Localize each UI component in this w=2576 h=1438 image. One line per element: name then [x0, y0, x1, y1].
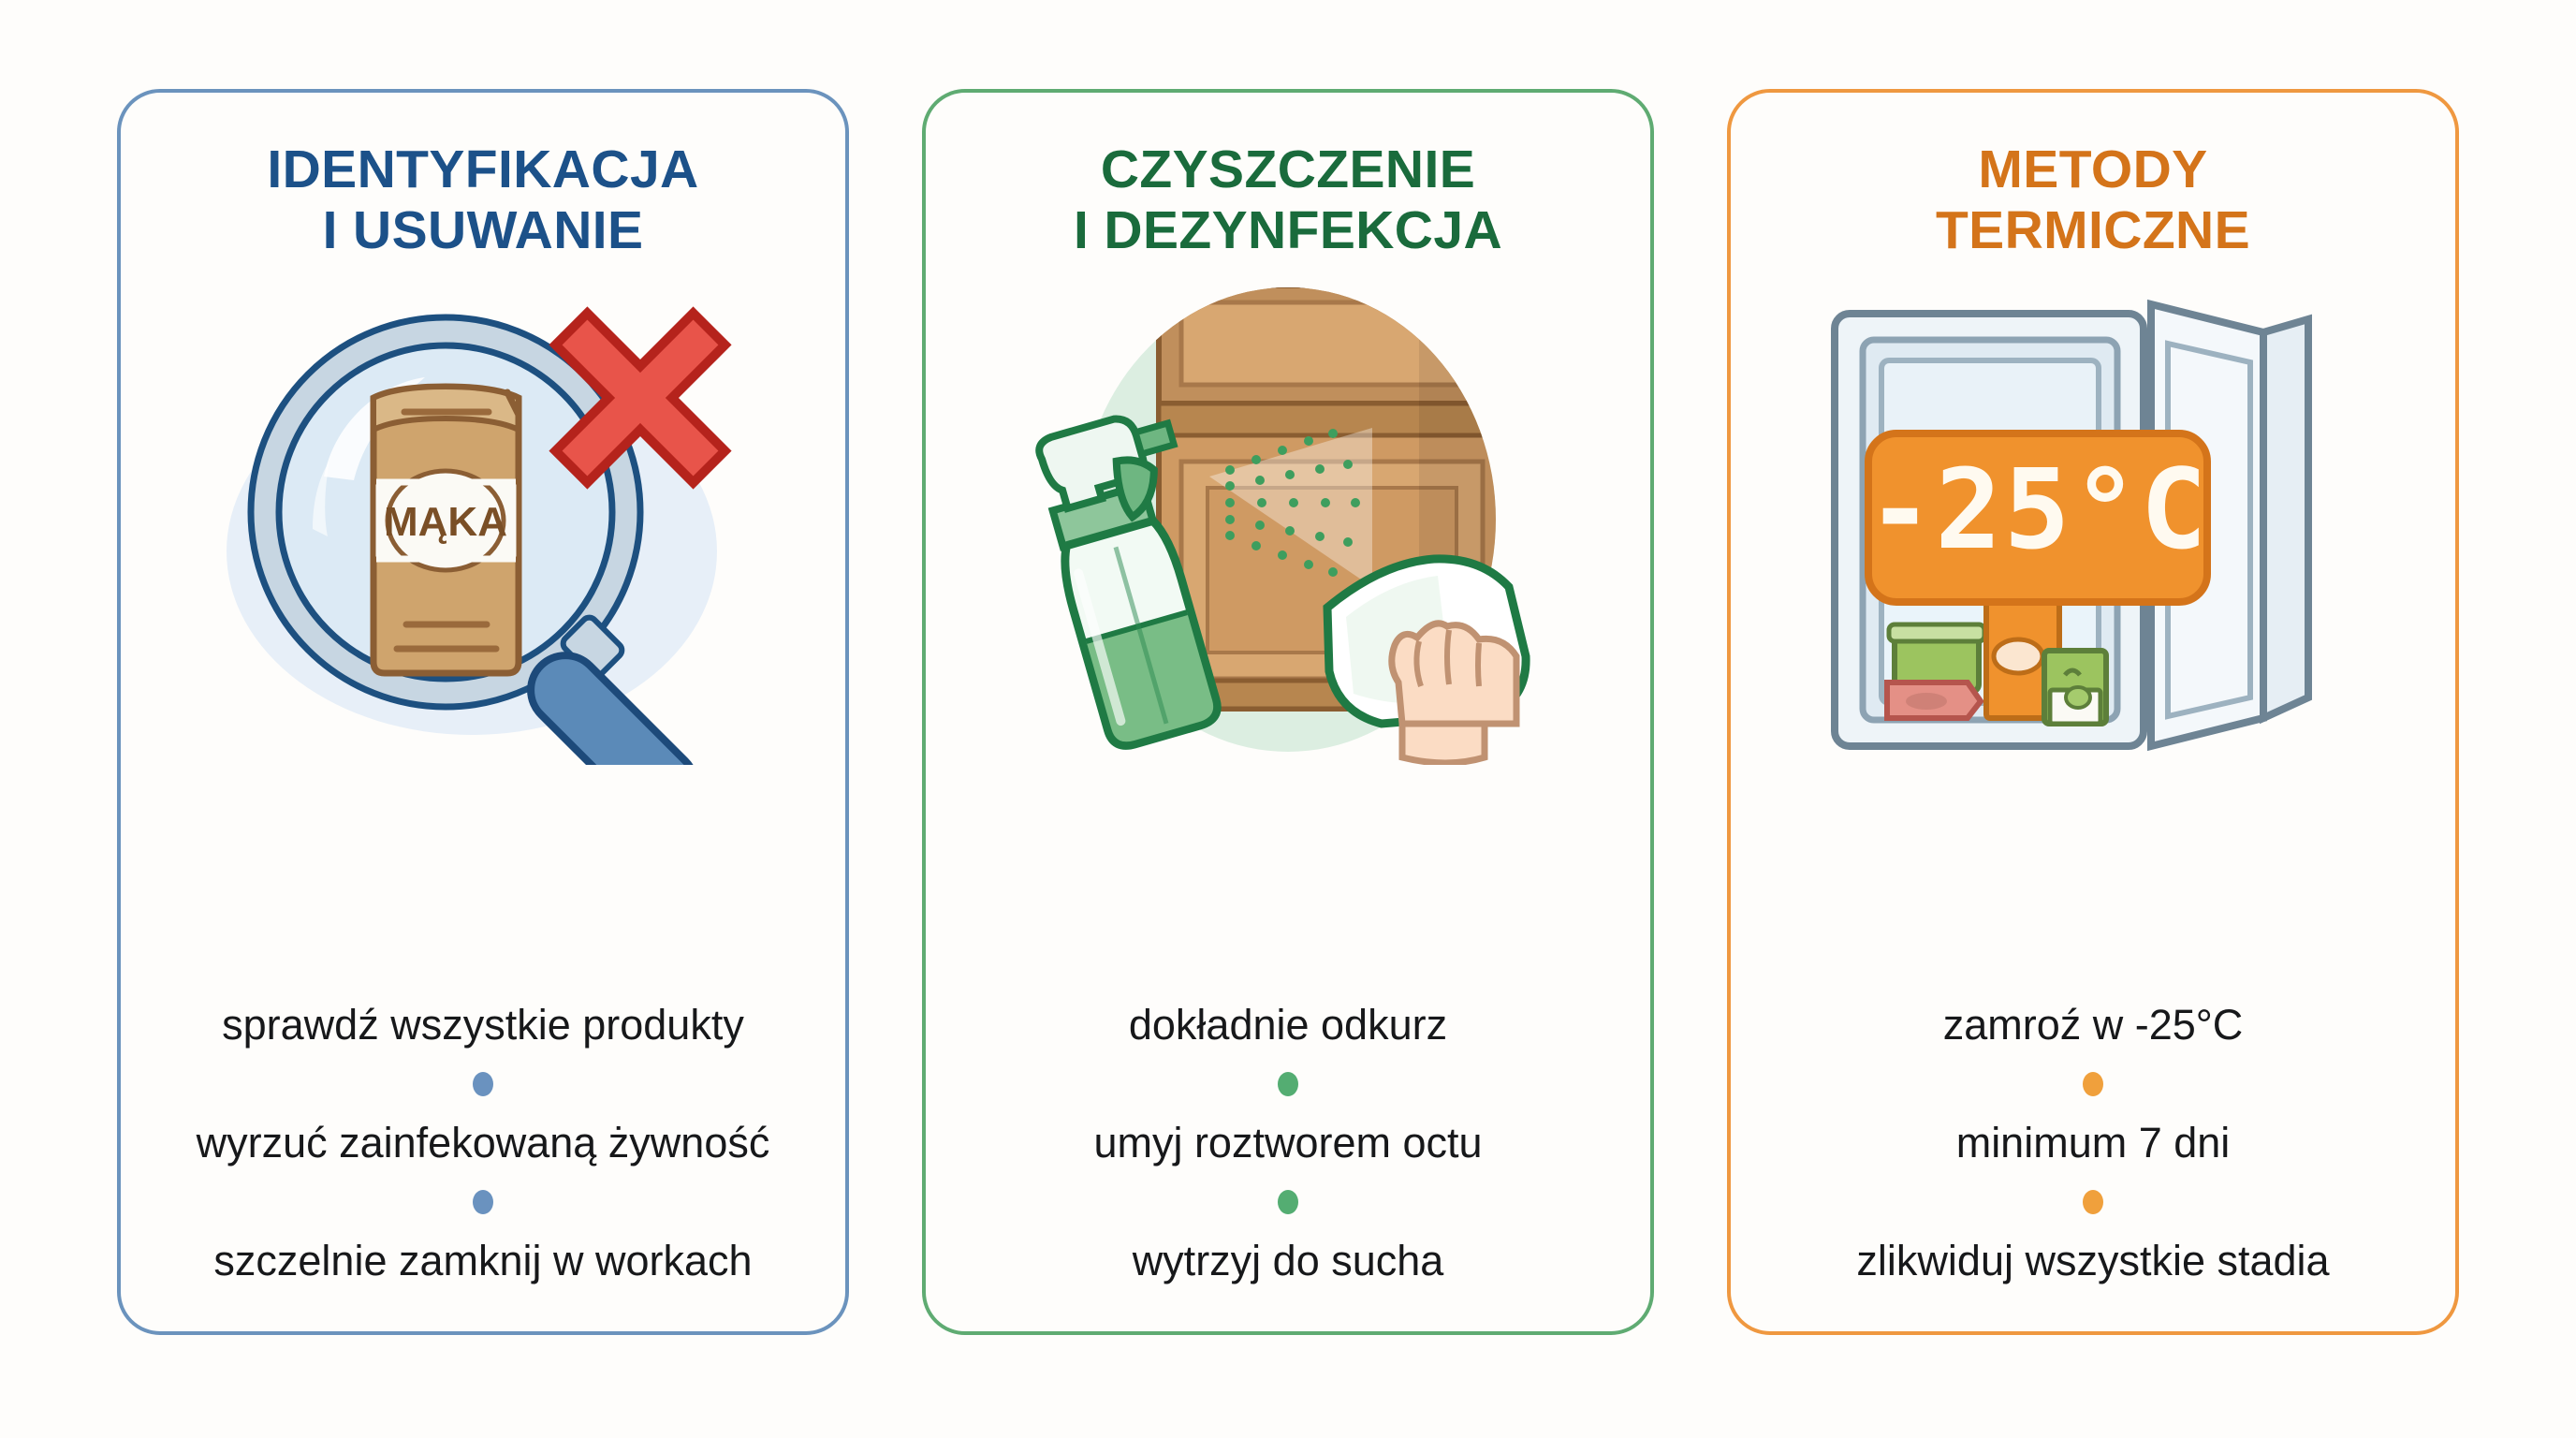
step-item: szczelnie zamknij w workach [213, 1236, 752, 1286]
step-item: sprawdź wszystkie produkty [222, 1000, 744, 1050]
step-item: umyj roztworem octu [1093, 1118, 1482, 1168]
step-item: zlikwiduj wszystkie stadia [1856, 1236, 2329, 1286]
step-separator-dot [473, 1072, 493, 1096]
step-item: zamroź w -25°C [1943, 1000, 2244, 1050]
illustration-magnifying-glass-flour-bag-reject: MĄKA [174, 278, 792, 765]
digital-display: -25°C [1866, 433, 2208, 602]
steps-cleaning: dokładnie odkurz umyj roztworem octu wyt… [950, 1000, 1626, 1303]
step-item: wytrzyj do sucha [1133, 1236, 1444, 1286]
step-separator-dot [473, 1190, 493, 1214]
step-separator-dot [2083, 1190, 2103, 1214]
illustration-freezer-temperature-display: -25°C [1784, 278, 2402, 765]
step-separator-dot [1278, 1072, 1298, 1096]
card-cleaning[interactable]: CZYSZCZENIE I DEZYNFEKCJA [922, 89, 1654, 1335]
flour-bag-label-text: MĄKA [384, 499, 507, 545]
steps-thermal: zamroź w -25°C minimum 7 dni zlikwiduj w… [1755, 1000, 2431, 1303]
card-thermal[interactable]: METODY TERMICZNE [1727, 89, 2459, 1335]
card-identification[interactable]: IDENTYFIKACJA I USUWANIE [117, 89, 849, 1335]
card-title-identification: IDENTYFIKACJA I USUWANIE [267, 139, 698, 261]
step-item: dokładnie odkurz [1129, 1000, 1447, 1050]
step-separator-dot [2083, 1072, 2103, 1096]
illustration-spray-bottle-cabinet-wipe [979, 278, 1597, 765]
step-item: minimum 7 dni [1956, 1118, 2231, 1168]
steps-identification: sprawdź wszystkie produkty wyrzuć zainfe… [145, 1000, 821, 1303]
card-title-thermal: METODY TERMICZNE [1936, 139, 2250, 261]
flour-bag: MĄKA [373, 387, 519, 673]
display-temperature-text: -25°C [1866, 445, 2208, 574]
card-title-cleaning: CZYSZCZENIE I DEZYNFEKCJA [1074, 139, 1502, 261]
infographic-canvas: IDENTYFIKACJA I USUWANIE [0, 0, 2576, 1438]
step-separator-dot [1278, 1190, 1298, 1214]
step-item: wyrzuć zainfekowaną żywność [197, 1118, 770, 1168]
card-row: IDENTYFIKACJA I USUWANIE [0, 0, 2576, 1438]
